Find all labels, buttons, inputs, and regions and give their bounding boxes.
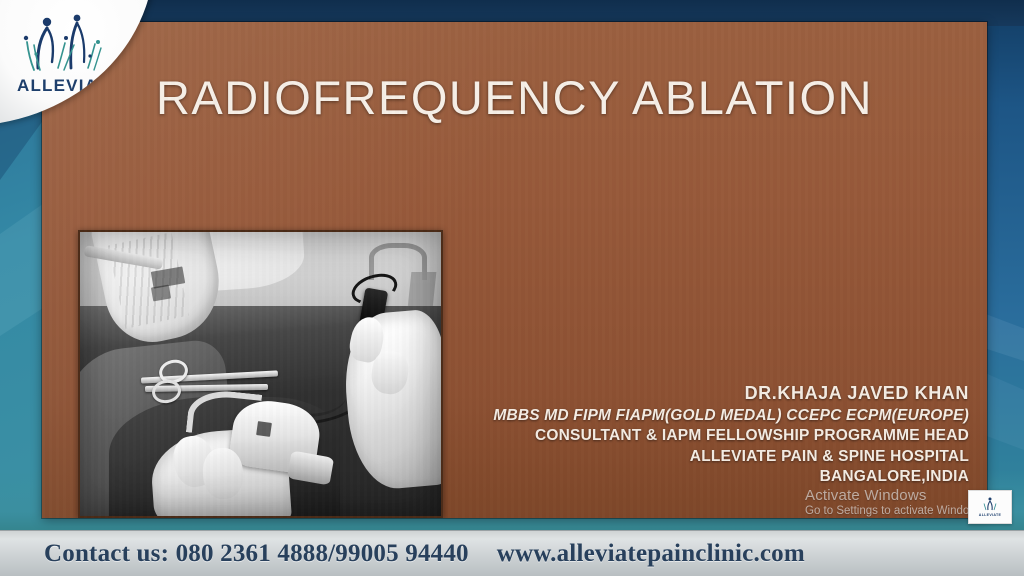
presentation-slide: RADIOFREQUENCY ABLATION [42,22,987,518]
doctor-location: BANGALORE,INDIA [449,467,969,487]
contact-bar: Contact us: 080 2361 4888/99005 94440 ww… [0,530,1024,576]
mini-brand-logo: ALLEVIATE [968,490,1012,524]
alleviate-figures-icon [20,14,106,76]
contact-phone: Contact us: 080 2361 4888/99005 94440 [44,540,469,568]
doctor-name: DR.KHAJA JAVED KHAN [449,382,969,406]
doctor-hospital: ALLEVIATE PAIN & SPINE HOSPITAL [449,447,969,467]
mini-logo-label: ALLEVIATE [979,513,1001,517]
alleviate-figures-icon [981,497,999,513]
contact-website[interactable]: www.alleviatepainclinic.com [497,540,805,568]
doctor-qualifications: MBBS MD FIPM FIAPM(GOLD MEDAL) CCEPC ECP… [449,406,969,426]
doctor-credentials: DR.KHAJA JAVED KHAN MBBS MD FIPM FIAPM(G… [449,382,969,488]
procedure-photo [78,230,443,518]
page-title: RADIOFREQUENCY ABLATION [42,70,987,125]
video-stage: RADIOFREQUENCY ABLATION [0,0,1024,576]
doctor-role: CONSULTANT & IAPM FELLOWSHIP PROGRAMME H… [449,426,969,446]
procedure-photo-image [80,232,441,516]
brand-logo-label: ALLEVIATE [0,76,144,96]
